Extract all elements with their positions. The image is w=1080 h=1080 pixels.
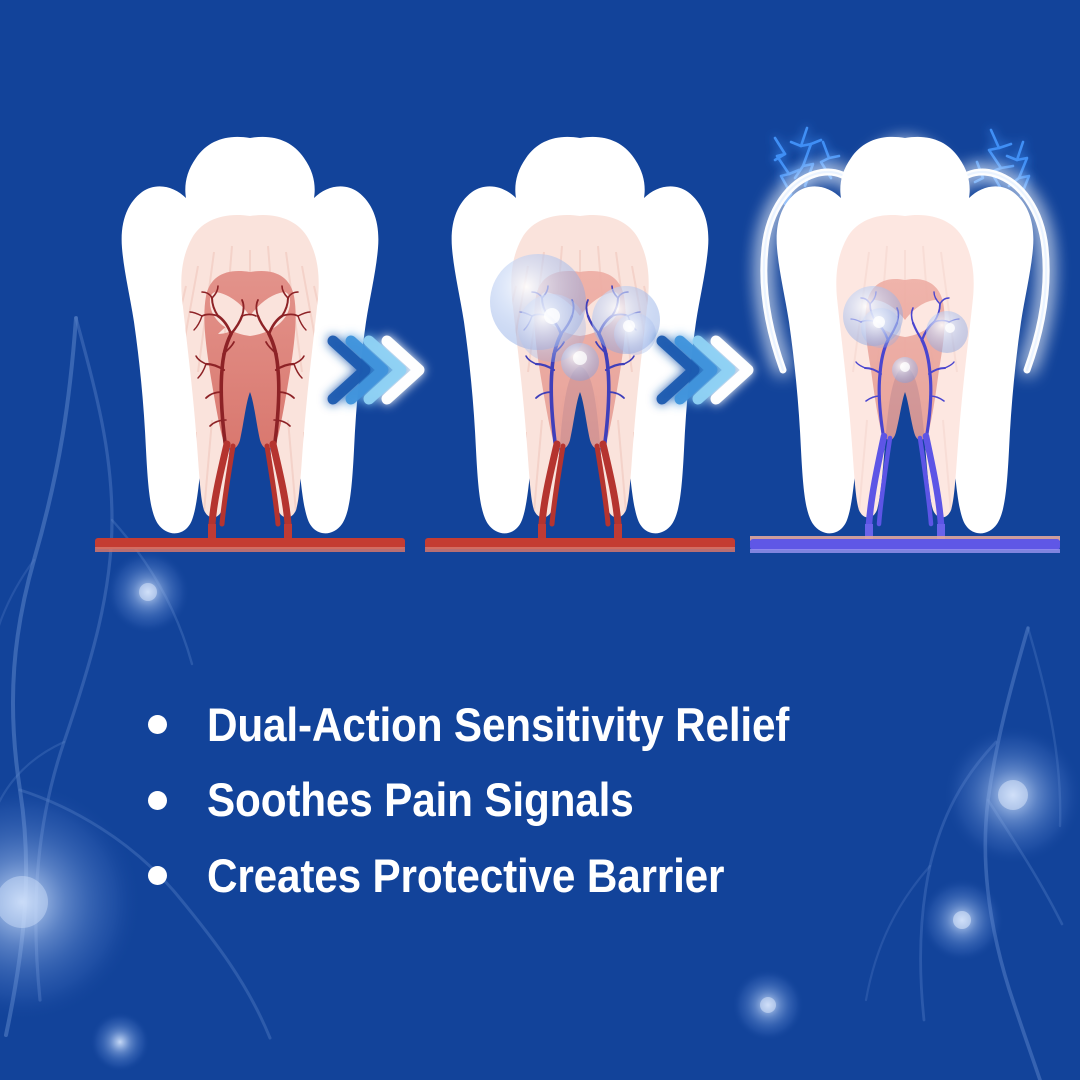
gum-line-1 xyxy=(95,538,405,552)
bullet-label: Dual-Action Sensitivity Relief xyxy=(207,700,789,749)
progress-arrow-1 xyxy=(323,315,433,425)
gum-line-3 xyxy=(750,536,1060,553)
tooth-stage-3 xyxy=(755,120,1055,570)
progress-arrow-2 xyxy=(652,315,762,425)
infographic-canvas: Dual-Action Sensitivity Relief Soothes P… xyxy=(0,0,1080,1080)
tooth-stage-row xyxy=(0,120,1080,570)
list-item: Soothes Pain Signals xyxy=(148,775,1028,824)
list-item: Creates Protective Barrier xyxy=(148,851,1028,900)
gum-line-2 xyxy=(425,538,735,552)
benefit-bullet-list: Dual-Action Sensitivity Relief Soothes P… xyxy=(148,700,1028,926)
bullet-dot-icon xyxy=(148,715,167,734)
bullet-label: Creates Protective Barrier xyxy=(207,851,724,900)
bullet-dot-icon xyxy=(148,791,167,810)
bullet-label: Soothes Pain Signals xyxy=(207,775,634,824)
bullet-dot-icon xyxy=(148,866,167,885)
list-item: Dual-Action Sensitivity Relief xyxy=(148,700,1028,749)
